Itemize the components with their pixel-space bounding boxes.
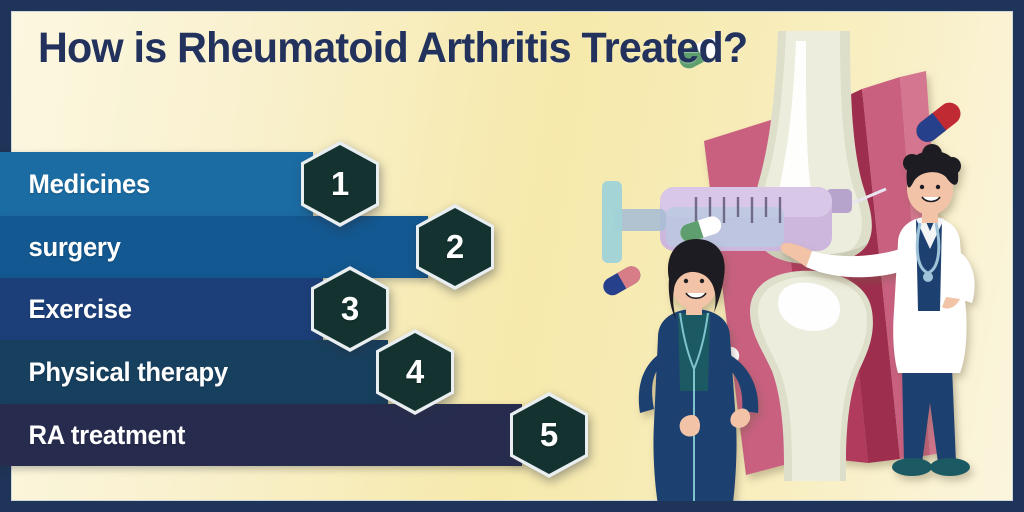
step-number: 1 (331, 165, 349, 203)
step-number: 5 (540, 416, 558, 454)
list-item-label: Physical therapy (0, 357, 228, 388)
step-badge-4[interactable]: 4 (376, 329, 454, 415)
step-badge-1[interactable]: 1 (301, 141, 379, 227)
treatment-list: Medicines surgery Exercise Physical ther… (0, 0, 700, 512)
list-item[interactable]: Exercise (0, 278, 323, 340)
step-badge-5[interactable]: 5 (510, 392, 588, 478)
step-number: 4 (406, 353, 424, 391)
list-item[interactable]: Medicines (0, 152, 313, 216)
list-item-label: RA treatment (0, 420, 185, 451)
list-item-label: Medicines (0, 169, 150, 200)
step-number: 2 (446, 228, 464, 266)
step-badge-2[interactable]: 2 (416, 204, 494, 290)
step-number: 3 (341, 290, 359, 328)
infographic-poster: How is Rheumatoid Arthritis Treated? Med… (0, 0, 1024, 512)
list-item-label: Exercise (0, 294, 132, 325)
list-item-label: surgery (0, 232, 121, 263)
